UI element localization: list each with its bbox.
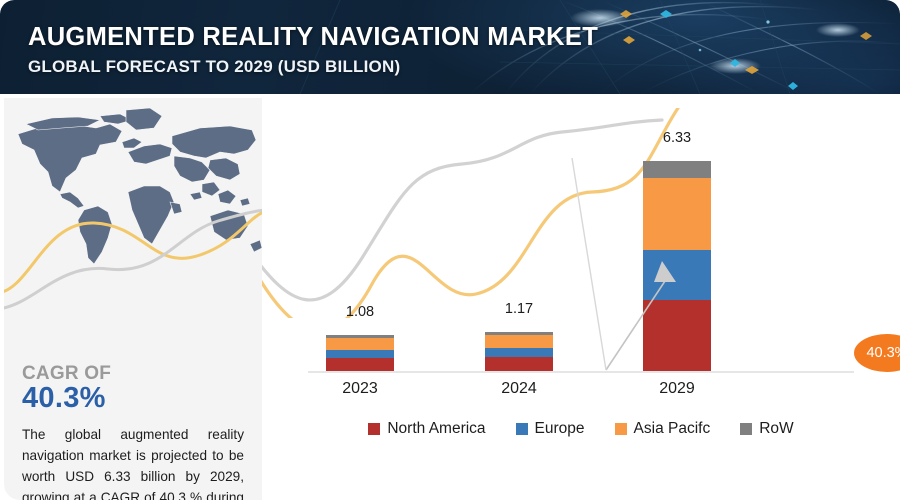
page-subtitle: GLOBAL FORECAST TO 2029 (USD BILLION) <box>28 57 400 77</box>
page-title: AUGMENTED REALITY NAVIGATION MARKET <box>28 23 598 52</box>
cagr-value: 40.3% <box>22 382 106 415</box>
chart-panel: 1.08 2023 1.17 2024 6.33 <box>262 98 896 500</box>
left-summary-panel: CAGR OF 40.3% The global augmented reali… <box>4 98 262 500</box>
cagr-callout-text: 40.3% <box>866 345 900 361</box>
infographic-root: AUGMENTED REALITY NAVIGATION MARKET GLOB… <box>0 0 900 504</box>
header-banner: AUGMENTED REALITY NAVIGATION MARKET GLOB… <box>0 0 900 94</box>
left-decorative-curves <box>4 193 262 313</box>
summary-description: The global augmented reality navigation … <box>22 424 244 500</box>
cagr-arrow <box>262 98 896 500</box>
